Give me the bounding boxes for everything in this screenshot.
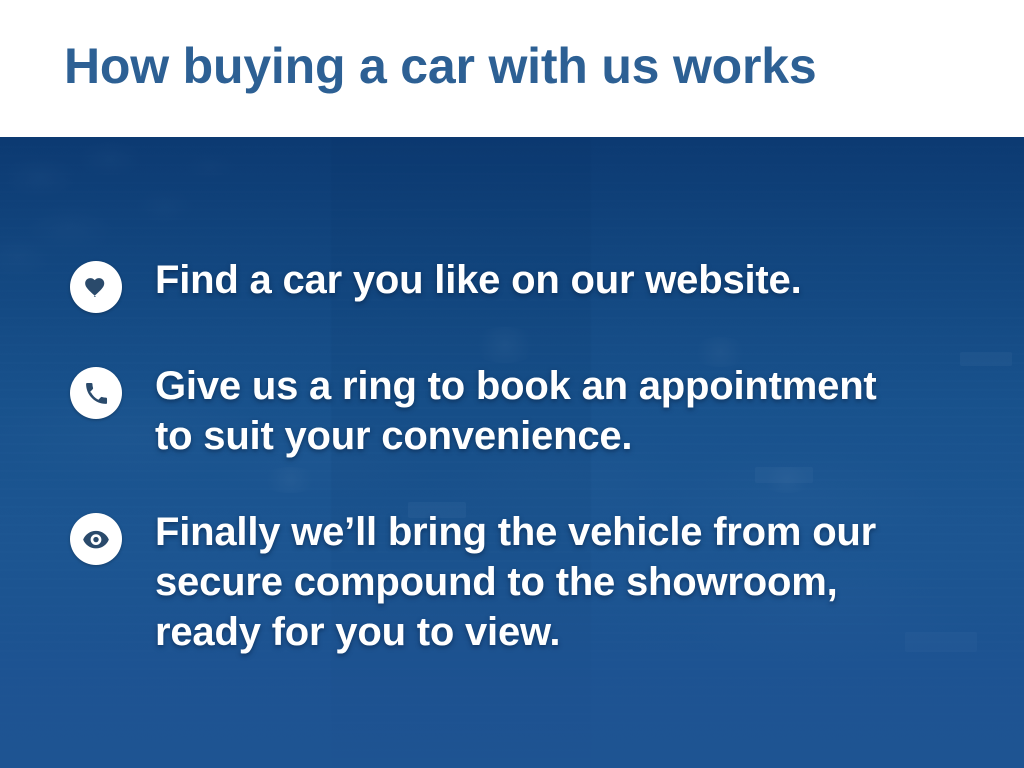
slide-root: Find a car you like on our website. Give… (0, 0, 1024, 768)
step-label: Give us a ring to book an appointment to… (155, 361, 877, 461)
step-item-find-a-car: Find a car you like on our website. (70, 255, 801, 313)
step-item-bring-the-vehicle: Finally we’ll bring the vehicle from our… (70, 507, 876, 657)
step-label: Finally we’ll bring the vehicle from our… (155, 507, 876, 657)
page-title: How buying a car with us works (64, 36, 816, 96)
step-label: Find a car you like on our website. (155, 255, 801, 305)
eye-icon (70, 513, 122, 565)
step-item-give-us-a-ring: Give us a ring to book an appointment to… (70, 361, 877, 461)
phone-icon (70, 367, 122, 419)
header-band: How buying a car with us works (0, 0, 1024, 137)
hero-photo-region: Find a car you like on our website. Give… (0, 137, 1024, 768)
heart-icon (70, 261, 122, 313)
